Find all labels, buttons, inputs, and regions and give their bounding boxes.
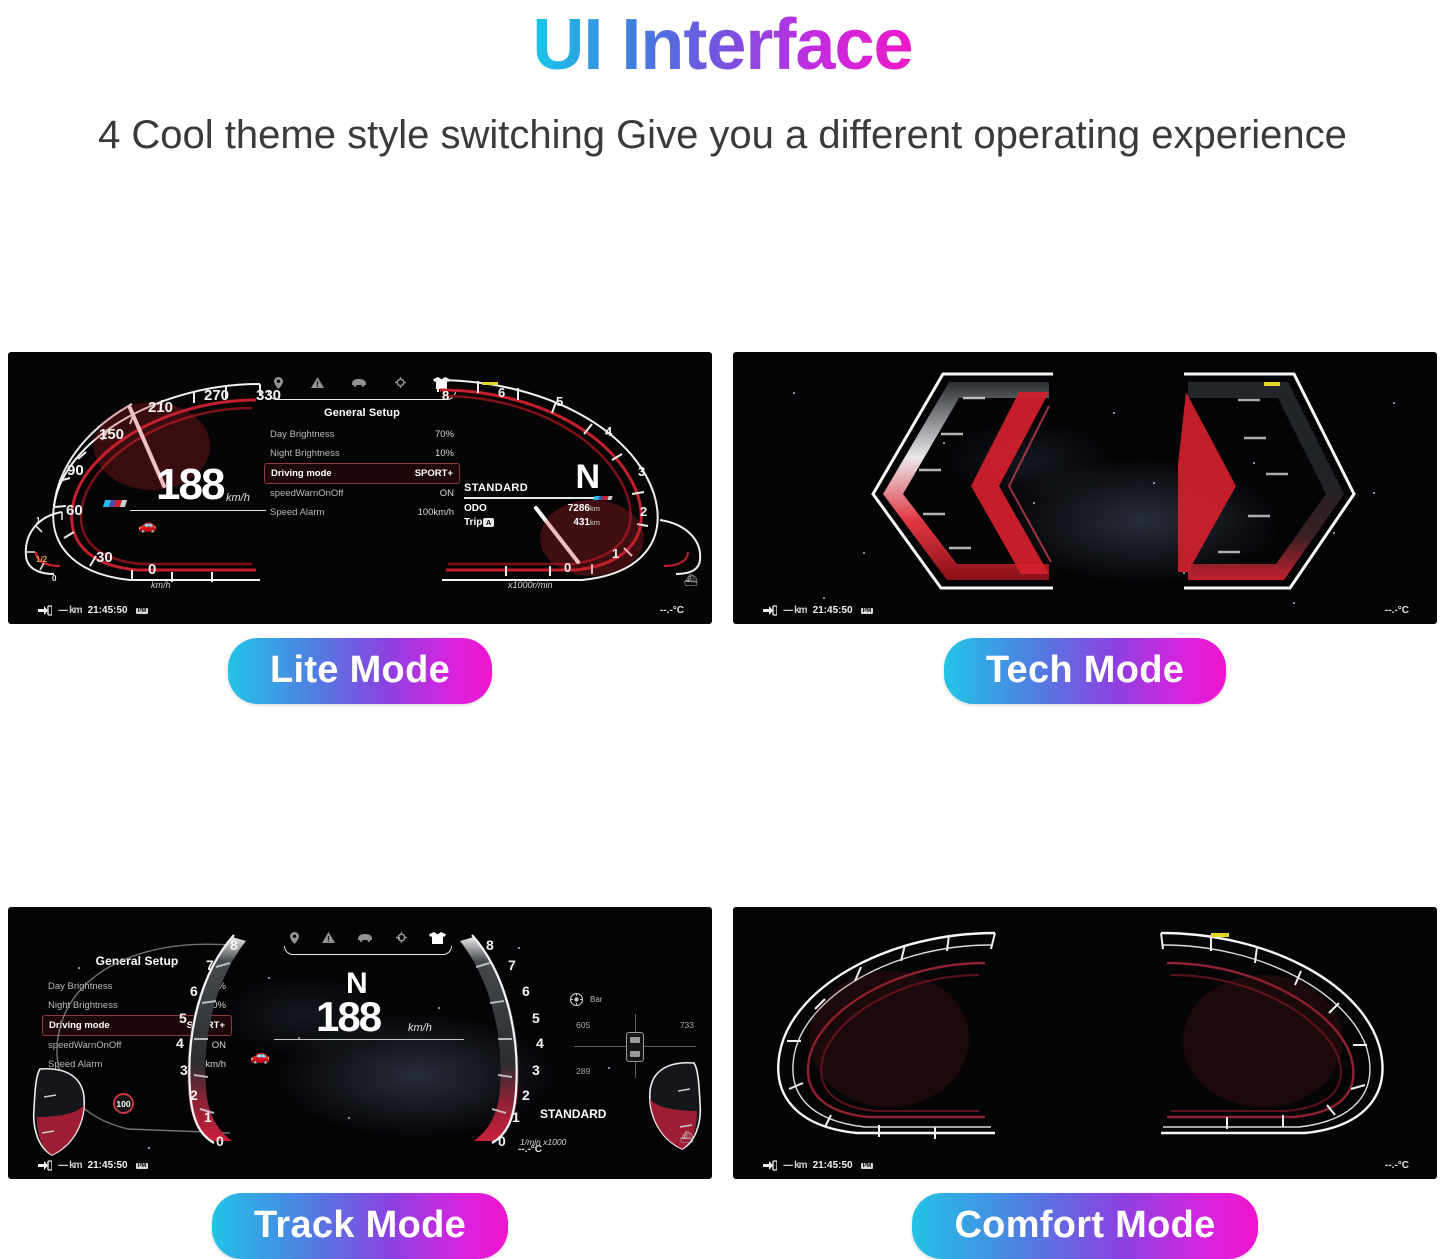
theme-card-tech[interactable]: 330 km/h 270 210 150 90 60 30 0 188 km/h… — [733, 352, 1437, 704]
rpm-tick-0: 0 — [564, 560, 571, 575]
coolant-gauge-lite — [652, 514, 712, 578]
page-header: UI Interface 4 Cool theme style switchin… — [0, 0, 1445, 166]
speed-value: 188 — [156, 460, 223, 510]
location-pin-icon[interactable] — [274, 377, 283, 389]
rpm-tick-6-track-l: 6 — [190, 983, 198, 999]
rpm-tick-1: 1 — [612, 546, 619, 561]
green-car-icon: 🚗 — [138, 518, 157, 533]
rpm-tick-2: 2 — [640, 504, 647, 519]
tacho-left-track — [172, 931, 262, 1151]
menu-row[interactable]: Speed Alarm 100km/h — [264, 503, 460, 522]
rpm-tick-2-track-r: 2 — [522, 1087, 530, 1103]
theme-badge-track[interactable]: Track Mode — [212, 1193, 508, 1259]
menu-rows: Day Brightness 70% Night Brightness 10% … — [264, 425, 460, 522]
fuel-tick-min: 0 — [52, 574, 56, 583]
trip-unit: km — [590, 518, 600, 527]
rpm-tick-3-track-l: 3 — [180, 1062, 188, 1078]
speedometer-arc-comfort — [739, 919, 1049, 1154]
clock-meridiem: PM — [861, 608, 874, 614]
range-icon — [763, 1160, 777, 1171]
page-title: UI Interface — [532, 2, 912, 88]
oil-temp-icon: ⛴ — [684, 574, 698, 587]
warning-triangle-icon[interactable] — [311, 377, 324, 388]
rpm-tick-4-track-l: 4 — [176, 1035, 184, 1051]
rpm-tick-1-track-r: 1 — [512, 1109, 520, 1125]
rpm-tick-7-track-l: 7 — [206, 957, 214, 973]
cluster-comfort: 330 270 210 150 90 60 30 0 km/h 188 km/h… — [733, 907, 1437, 1179]
fuel-tick-max: 1 — [36, 516, 40, 525]
speed-tick-270: 270 — [204, 387, 229, 404]
rpm-tick-6: 6 — [498, 385, 505, 400]
range-icon — [38, 605, 52, 616]
clock: 21:45:50 — [88, 1160, 128, 1171]
range-value: ---- km — [58, 605, 82, 616]
menu-icon-row[interactable] — [264, 374, 460, 391]
badge-wrap-tech: Tech Mode — [733, 638, 1437, 704]
menu-arc — [268, 391, 456, 400]
speed-tick-30: 30 — [96, 549, 113, 566]
status-bar-track: ---- km 21:45:50 PM — [38, 1160, 148, 1171]
odo-unit: km — [590, 504, 600, 513]
menu-row-label: Day Brightness — [270, 429, 334, 441]
drive-profile: STANDARD — [464, 482, 528, 494]
menu-general-setup-lite[interactable]: General Setup Day Brightness 70% Night B… — [264, 374, 460, 522]
tyre-caption-row: Bar — [570, 993, 700, 1006]
tyre-front-right: 733 — [680, 1020, 694, 1030]
speed-limit-sign-track: 100 — [113, 1093, 134, 1114]
range-value: ---- km — [783, 1160, 807, 1171]
range-value: ---- km — [783, 605, 807, 616]
cluster-lite: 330 270 210 150 90 60 30 0 km/h 188 km/h… — [8, 352, 712, 624]
rpm-tick-8-track-l: 8 — [230, 937, 238, 953]
rpm-tick-8-track-r: 8 — [486, 937, 494, 953]
outside-temperature: --.-°C — [1385, 1160, 1409, 1171]
odo-value: 7286 — [568, 503, 590, 514]
speed-unit-label: km/h — [151, 580, 171, 590]
rpm-tick-3: 3 — [638, 464, 645, 479]
speed-tick-90: 90 — [67, 462, 84, 479]
rpm-chevron-tech — [1178, 366, 1368, 606]
speed-tick-210: 210 — [148, 399, 173, 416]
tyre-pressure-icon — [570, 993, 583, 1006]
rpm-tick-6-track-r: 6 — [522, 983, 530, 999]
menu-row-selected[interactable]: Driving mode SPORT+ — [264, 463, 460, 484]
tacho-right-track — [444, 931, 534, 1151]
rpm-tick-7-track-r: 7 — [508, 957, 516, 973]
menu-title: General Setup — [264, 407, 460, 419]
tachometer-arc-comfort — [1153, 919, 1437, 1154]
range-value: ---- km — [58, 1160, 82, 1171]
trip-label: Trip — [464, 517, 482, 528]
speed-tick-150: 150 — [99, 426, 124, 443]
tyre-rear-left: 289 — [576, 1066, 590, 1076]
odo-label: ODO — [464, 503, 487, 514]
clock: 21:45:50 — [88, 605, 128, 616]
outside-temperature: --.-°C — [660, 605, 684, 616]
rpm-tick-5: 5 — [556, 394, 563, 409]
speed-value-unit-track: km/h — [408, 1022, 432, 1034]
badge-wrap-track: Track Mode — [8, 1193, 712, 1259]
gear-icon[interactable] — [395, 377, 406, 388]
range-icon — [38, 1160, 52, 1171]
location-pin-icon[interactable] — [290, 932, 299, 944]
theme-badge-lite[interactable]: Lite Mode — [228, 638, 492, 704]
theme-card-track[interactable]: General Setup Day Brightness 70% Night B… — [8, 907, 712, 1259]
rpm-tick-5-track-l: 5 — [179, 1010, 187, 1026]
range-icon — [763, 605, 777, 616]
rpm-tick-4-track-r: 4 — [536, 1035, 544, 1051]
menu-arc — [284, 946, 452, 955]
speed-value-unit: km/h — [226, 492, 250, 504]
car-top-view-icon — [626, 1032, 644, 1062]
clock-meridiem: PM — [136, 1163, 149, 1169]
rpm-tick-4: 4 — [605, 424, 612, 439]
green-car-icon-track: 🚗 — [250, 1049, 270, 1064]
gear-icon[interactable] — [396, 932, 407, 943]
badge-wrap-lite: Lite Mode — [8, 638, 712, 704]
gallery-row-1: 330 270 210 150 90 60 30 0 km/h 188 km/h… — [0, 352, 1445, 704]
clock: 21:45:50 — [813, 1160, 853, 1171]
tyre-unit-label: Bar — [590, 995, 602, 1004]
rpm-tick-8: 8 — [442, 388, 449, 403]
menu-icon-row[interactable] — [280, 929, 456, 946]
menu-row-label: Speed Alarm — [270, 507, 324, 519]
menu-row-label: Night Brightness — [270, 448, 340, 460]
m-logo-icon — [103, 500, 127, 507]
fuel-gauge-track — [30, 1065, 96, 1161]
rpm-tick-2-track-l: 2 — [190, 1087, 198, 1103]
gallery-row-2: General Setup Day Brightness 70% Night B… — [0, 907, 1445, 1259]
theme-gallery: 330 270 210 150 90 60 30 0 km/h 188 km/h… — [0, 352, 1445, 1259]
clock: 21:45:50 — [813, 605, 853, 616]
m-logo-small-icon — [593, 496, 612, 500]
outside-temperature: --.-°C — [1385, 605, 1409, 616]
rpm-tick-0-track-l: 0 — [216, 1133, 224, 1149]
rpm-tick-3-track-r: 3 — [532, 1062, 540, 1078]
theme-badge-tech[interactable]: Tech Mode — [944, 638, 1226, 704]
coolant-gauge-track — [638, 1059, 704, 1155]
fuel-tick-half: 1/2 — [36, 555, 47, 564]
menu-row[interactable]: Day Brightness 70% — [264, 425, 460, 444]
theme-card-comfort[interactable]: 330 270 210 150 90 60 30 0 km/h 188 km/h… — [733, 907, 1437, 1259]
status-bar-comfort: ---- km 21:45:50 PM — [763, 1160, 873, 1171]
gear-info-lite: STANDARD N ODO 7286km TripA 431km — [464, 460, 600, 528]
speed-divider — [130, 510, 266, 511]
speed-tick-0: 0 — [148, 561, 156, 578]
gear-indicator: N — [575, 460, 600, 494]
car-icon[interactable] — [351, 378, 367, 387]
car-icon[interactable] — [357, 933, 373, 942]
warning-triangle-icon[interactable] — [322, 932, 335, 943]
speed-chevron-tech — [853, 366, 1153, 606]
menu-row[interactable]: Night Brightness 10% — [264, 444, 460, 463]
rpm-unit-label: x1000r/min — [508, 580, 553, 590]
trip-value: 431 — [573, 517, 590, 528]
clock-meridiem: PM — [136, 608, 149, 614]
speed-divider-track — [274, 1039, 464, 1040]
theme-card-lite[interactable]: 330 270 210 150 90 60 30 0 km/h 188 km/h… — [8, 352, 712, 704]
cluster-track: General Setup Day Brightness 70% Night B… — [8, 907, 712, 1179]
status-bar-lite: ---- km 21:45:50 PM — [38, 605, 148, 616]
speed-value-track: 188 — [316, 993, 380, 1041]
menu-row-label: Driving mode — [271, 468, 332, 480]
badge-wrap-comfort: Comfort Mode — [733, 1193, 1437, 1259]
tyre-front-left: 605 — [576, 1020, 590, 1030]
rpm-tick-5-track-r: 5 — [532, 1010, 540, 1026]
menu-icon-bar-track[interactable] — [280, 929, 456, 955]
status-bar-tech: ---- km 21:45:50 PM — [763, 605, 873, 616]
page-subtitle: 4 Cool theme style switching Give you a … — [28, 104, 1418, 166]
fuel-gauge-lite — [18, 508, 82, 580]
menu-row-label: speedWarnOnOff — [270, 488, 343, 500]
clock-meridiem: PM — [861, 1163, 874, 1169]
rpm-tick-0-track-r: 0 — [498, 1133, 506, 1149]
oil-temp-icon: ⛴ — [680, 1131, 694, 1144]
outside-temperature: --.-°C — [518, 1144, 542, 1155]
theme-badge-comfort[interactable]: Comfort Mode — [912, 1193, 1257, 1259]
trip-badge: A — [483, 518, 493, 527]
cluster-tech: 330 km/h 270 210 150 90 60 30 0 188 km/h… — [733, 352, 1437, 624]
rpm-tick-1-track-l: 1 — [204, 1109, 212, 1125]
menu-row[interactable]: speedWarnOnOff ON — [264, 484, 460, 503]
drive-profile-track: STANDARD — [540, 1107, 606, 1121]
